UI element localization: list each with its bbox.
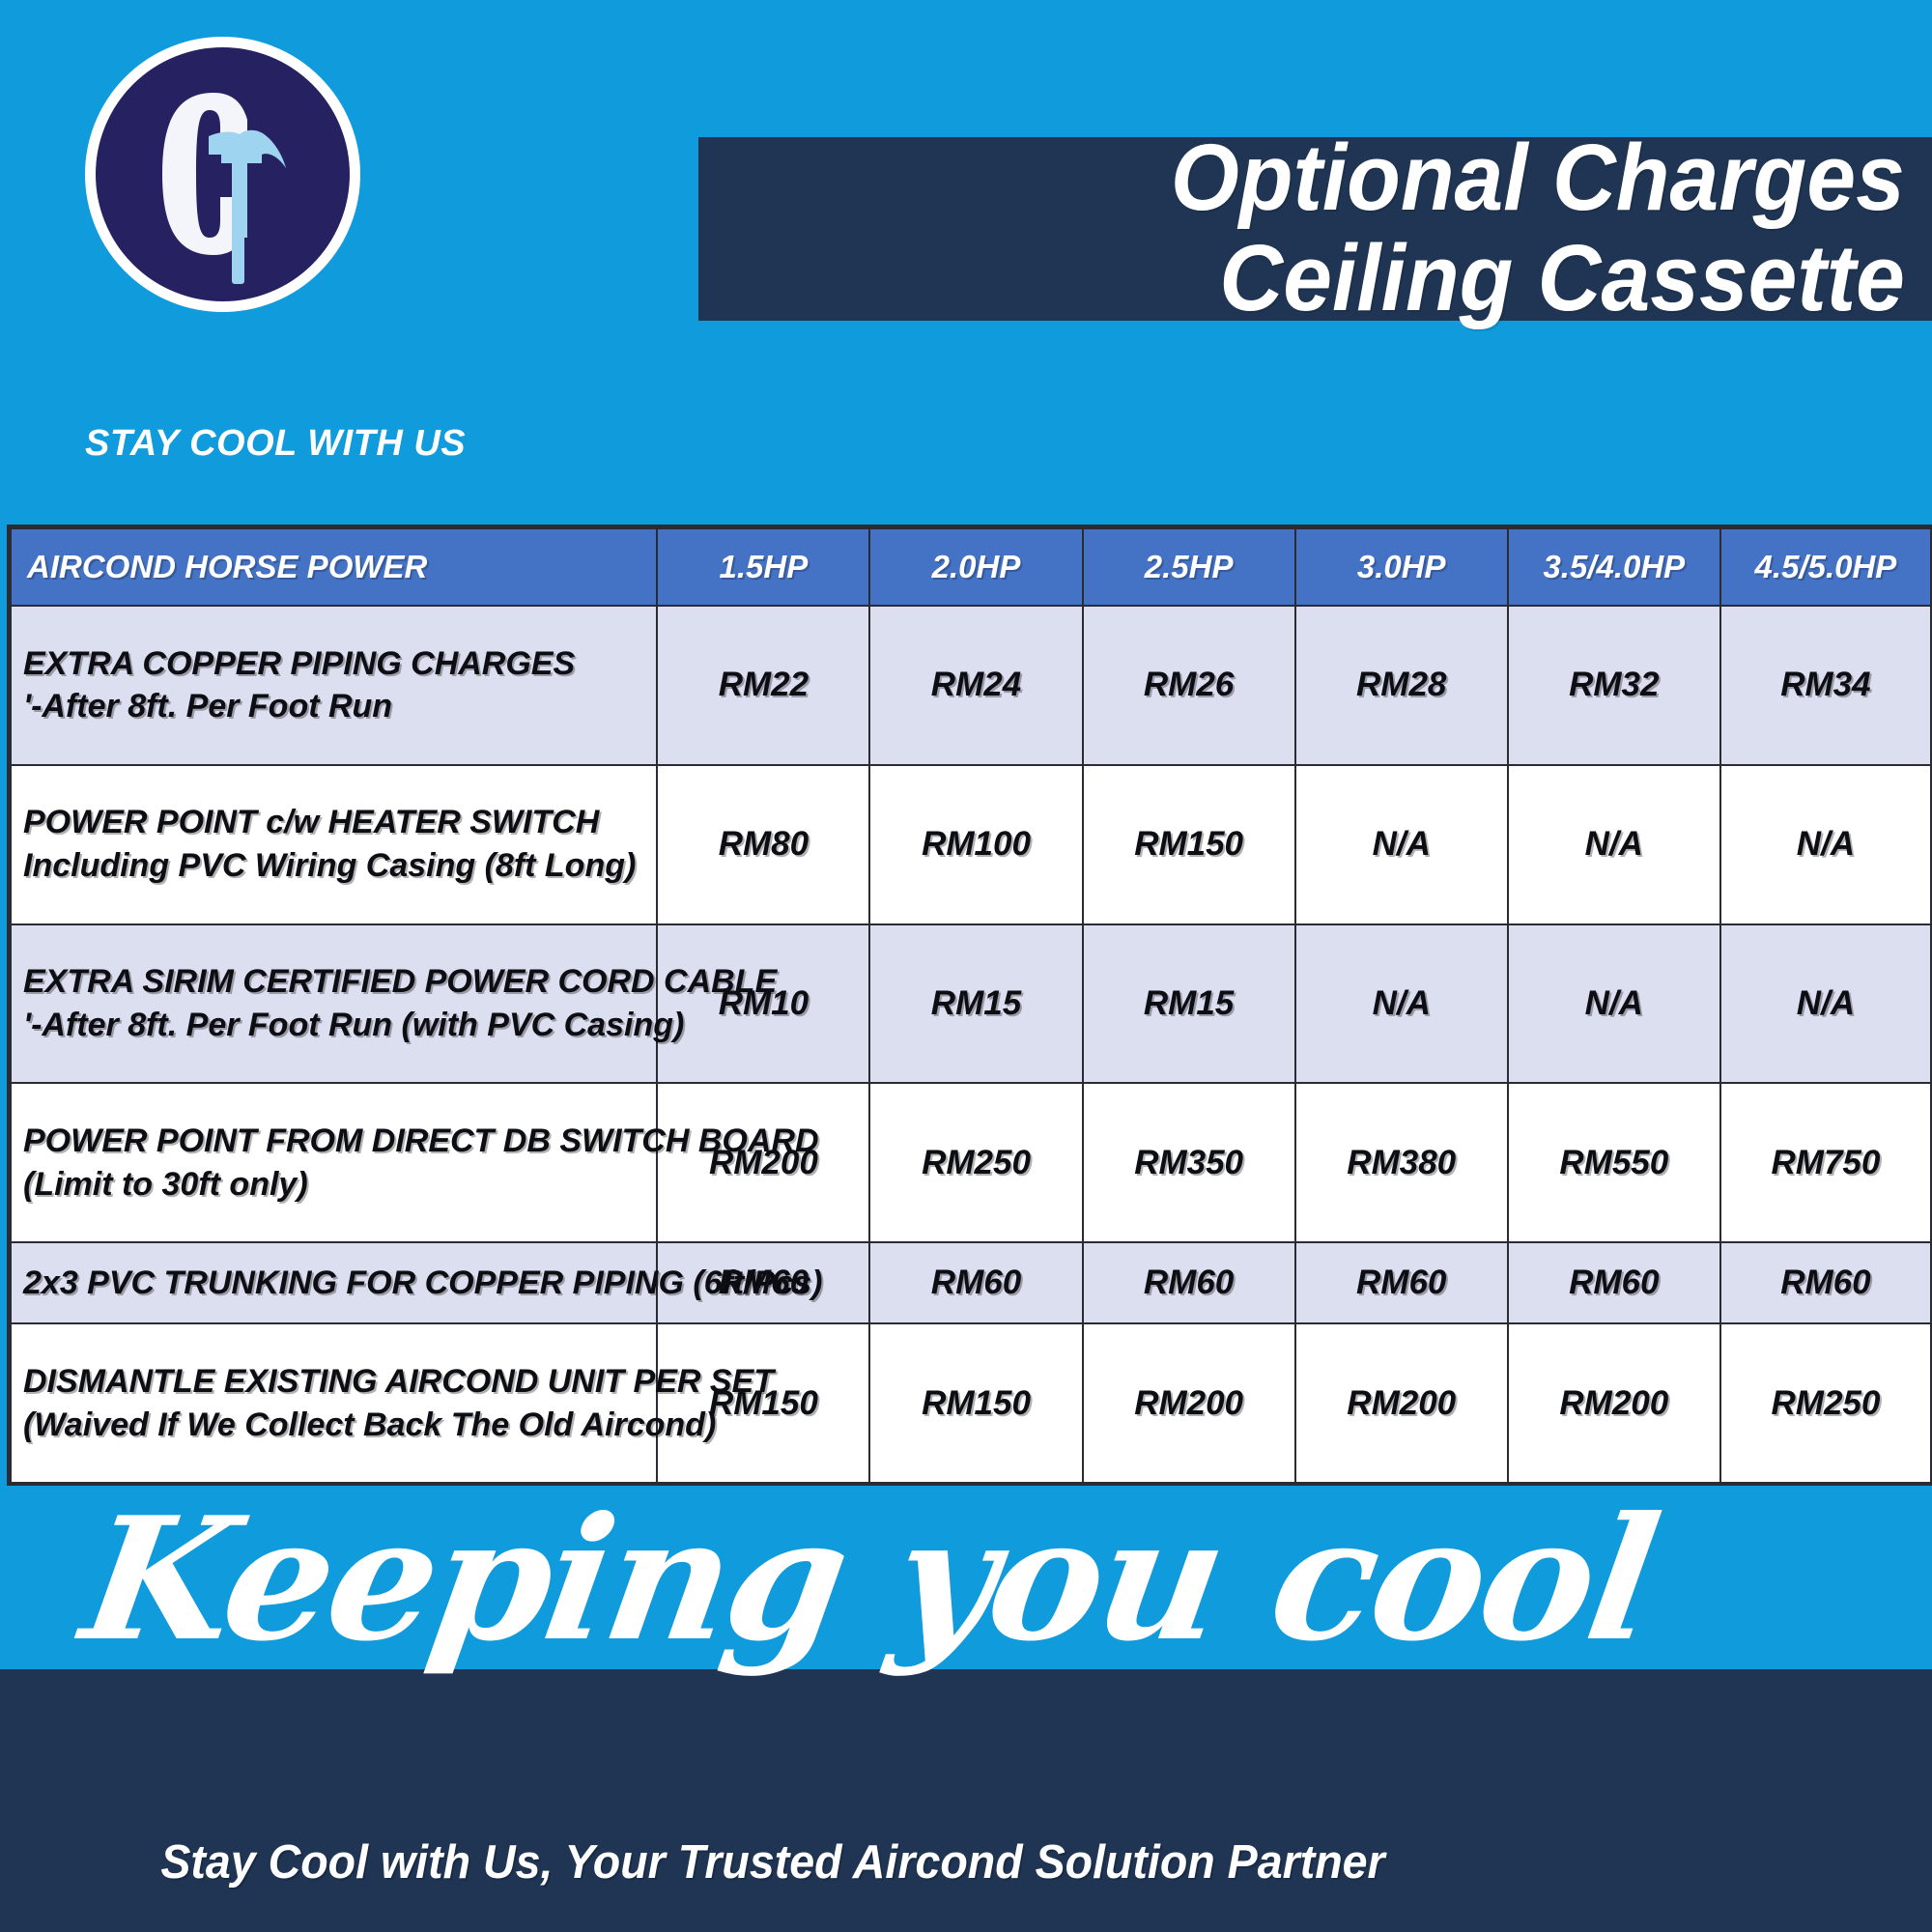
cell-value: RM200 bbox=[1508, 1323, 1720, 1483]
table-row: DISMANTLE EXISTING AIRCOND UNIT PER SET … bbox=[11, 1323, 1931, 1483]
cell-value: RM60 bbox=[1295, 1242, 1508, 1323]
hammer-head-icon bbox=[209, 130, 286, 168]
cell-value: RM150 bbox=[657, 1323, 869, 1483]
cell-value: RM350 bbox=[1083, 1083, 1295, 1242]
title-line-2: Ceiling Cassette bbox=[806, 228, 1904, 328]
cell-value: N/A bbox=[1295, 765, 1508, 924]
cell-value: RM250 bbox=[1720, 1323, 1931, 1483]
footer-navy-band bbox=[0, 1669, 1932, 1932]
charges-table-container: AIRCOND HORSE POWER 1.5HP 2.0HP 2.5HP 3.… bbox=[7, 525, 1932, 1486]
cell-value: RM34 bbox=[1720, 606, 1931, 765]
table-header: AIRCOND HORSE POWER 1.5HP 2.0HP 2.5HP 3.… bbox=[11, 528, 1931, 606]
cell-value: RM750 bbox=[1720, 1083, 1931, 1242]
optional-charges-table: AIRCOND HORSE POWER 1.5HP 2.0HP 2.5HP 3.… bbox=[10, 527, 1932, 1484]
column-header-4-5-5-0hp: 4.5/5.0HP bbox=[1720, 528, 1931, 606]
cell-value: RM10 bbox=[657, 924, 869, 1084]
cell-value: RM380 bbox=[1295, 1083, 1508, 1242]
row-label: 2x3 PVC TRUNKING FOR COPPER PIPING (6ft/… bbox=[11, 1242, 657, 1323]
row-label: EXTRA COPPER PIPING CHARGES '-After 8ft.… bbox=[11, 606, 657, 765]
hammer-grip-icon bbox=[232, 201, 244, 284]
cell-value: RM60 bbox=[1083, 1242, 1295, 1323]
footer-script-slogan: Keeping you cool bbox=[0, 1495, 1752, 1664]
row-label: EXTRA SIRIM CERTIFIED POWER CORD CABLE '… bbox=[11, 924, 657, 1084]
cell-value: N/A bbox=[1508, 924, 1720, 1084]
row-label-line1: EXTRA COPPER PIPING CHARGES bbox=[23, 642, 656, 686]
column-header-2-0hp: 2.0HP bbox=[869, 528, 1082, 606]
table-row: POWER POINT FROM DIRECT DB SWITCH BOARD … bbox=[11, 1083, 1931, 1242]
cell-value: RM100 bbox=[869, 765, 1082, 924]
cell-value: RM15 bbox=[1083, 924, 1295, 1084]
cell-value: N/A bbox=[1295, 924, 1508, 1084]
cell-value: RM200 bbox=[1083, 1323, 1295, 1483]
cell-value: RM60 bbox=[1720, 1242, 1931, 1323]
row-label-line1: EXTRA SIRIM CERTIFIED POWER CORD CABLE bbox=[23, 960, 656, 1004]
title-line-1: Optional Charges bbox=[806, 128, 1904, 228]
row-label-line1: POWER POINT FROM DIRECT DB SWITCH BOARD bbox=[23, 1120, 656, 1163]
row-label-line1: POWER POINT c/w HEATER SWITCH bbox=[23, 801, 656, 844]
cell-value: N/A bbox=[1508, 765, 1720, 924]
row-label: POWER POINT FROM DIRECT DB SWITCH BOARD … bbox=[11, 1083, 657, 1242]
row-label-line2: Including PVC Wiring Casing (8ft Long) bbox=[23, 844, 656, 888]
brand-logo bbox=[85, 37, 452, 355]
footer-tagline: Stay Cool with Us, Your Trusted Aircond … bbox=[39, 1835, 1507, 1889]
column-header-2-5hp: 2.5HP bbox=[1083, 528, 1295, 606]
row-label-line1: 2x3 PVC TRUNKING FOR COPPER PIPING (6ft/… bbox=[23, 1262, 656, 1305]
table-row: EXTRA SIRIM CERTIFIED POWER CORD CABLE '… bbox=[11, 924, 1931, 1084]
cell-value: RM200 bbox=[1295, 1323, 1508, 1483]
row-label-line1: DISMANTLE EXISTING AIRCOND UNIT PER SET bbox=[23, 1360, 656, 1404]
table-row: EXTRA COPPER PIPING CHARGES '-After 8ft.… bbox=[11, 606, 1931, 765]
row-label-line2: (Limit to 30ft only) bbox=[23, 1163, 656, 1207]
table-row: POWER POINT c/w HEATER SWITCH Including … bbox=[11, 765, 1931, 924]
cell-value: N/A bbox=[1720, 924, 1931, 1084]
cell-value: N/A bbox=[1720, 765, 1931, 924]
table-header-row: AIRCOND HORSE POWER 1.5HP 2.0HP 2.5HP 3.… bbox=[11, 528, 1931, 606]
cell-value: RM28 bbox=[1295, 606, 1508, 765]
row-label-line2: '-After 8ft. Per Foot Run (with PVC Casi… bbox=[23, 1004, 656, 1047]
cell-value: RM26 bbox=[1083, 606, 1295, 765]
cell-value: RM80 bbox=[657, 765, 869, 924]
cell-value: RM250 bbox=[869, 1083, 1082, 1242]
cell-value: RM15 bbox=[869, 924, 1082, 1084]
row-label-line2: '-After 8ft. Per Foot Run bbox=[23, 685, 656, 728]
column-header-description: AIRCOND HORSE POWER bbox=[11, 528, 657, 606]
column-header-1-5hp: 1.5HP bbox=[657, 528, 869, 606]
cell-value: RM60 bbox=[1508, 1242, 1720, 1323]
page-title: Optional Charges Ceiling Cassette bbox=[806, 128, 1932, 328]
row-label-line2: (Waived If We Collect Back The Old Airco… bbox=[23, 1404, 656, 1447]
cell-value: RM22 bbox=[657, 606, 869, 765]
cell-value: RM32 bbox=[1508, 606, 1720, 765]
cell-value: RM550 bbox=[1508, 1083, 1720, 1242]
cell-value: RM200 bbox=[657, 1083, 869, 1242]
cell-value: RM24 bbox=[869, 606, 1082, 765]
cell-value: RM60 bbox=[869, 1242, 1082, 1323]
brand-tagline: STAY COOL WITH US bbox=[85, 423, 466, 465]
cell-value: RM150 bbox=[1083, 765, 1295, 924]
cell-value: RM150 bbox=[869, 1323, 1082, 1483]
row-label: DISMANTLE EXISTING AIRCOND UNIT PER SET … bbox=[11, 1323, 657, 1483]
table-row: 2x3 PVC TRUNKING FOR COPPER PIPING (6ft/… bbox=[11, 1242, 1931, 1323]
column-header-3-5-4-0hp: 3.5/4.0HP bbox=[1508, 528, 1720, 606]
page-header: STAY COOL WITH US Optional Charges Ceili… bbox=[0, 0, 1932, 525]
column-header-3-0hp: 3.0HP bbox=[1295, 528, 1508, 606]
table-body: EXTRA COPPER PIPING CHARGES '-After 8ft.… bbox=[11, 606, 1931, 1483]
row-label: POWER POINT c/w HEATER SWITCH Including … bbox=[11, 765, 657, 924]
logo-mark bbox=[85, 37, 360, 312]
